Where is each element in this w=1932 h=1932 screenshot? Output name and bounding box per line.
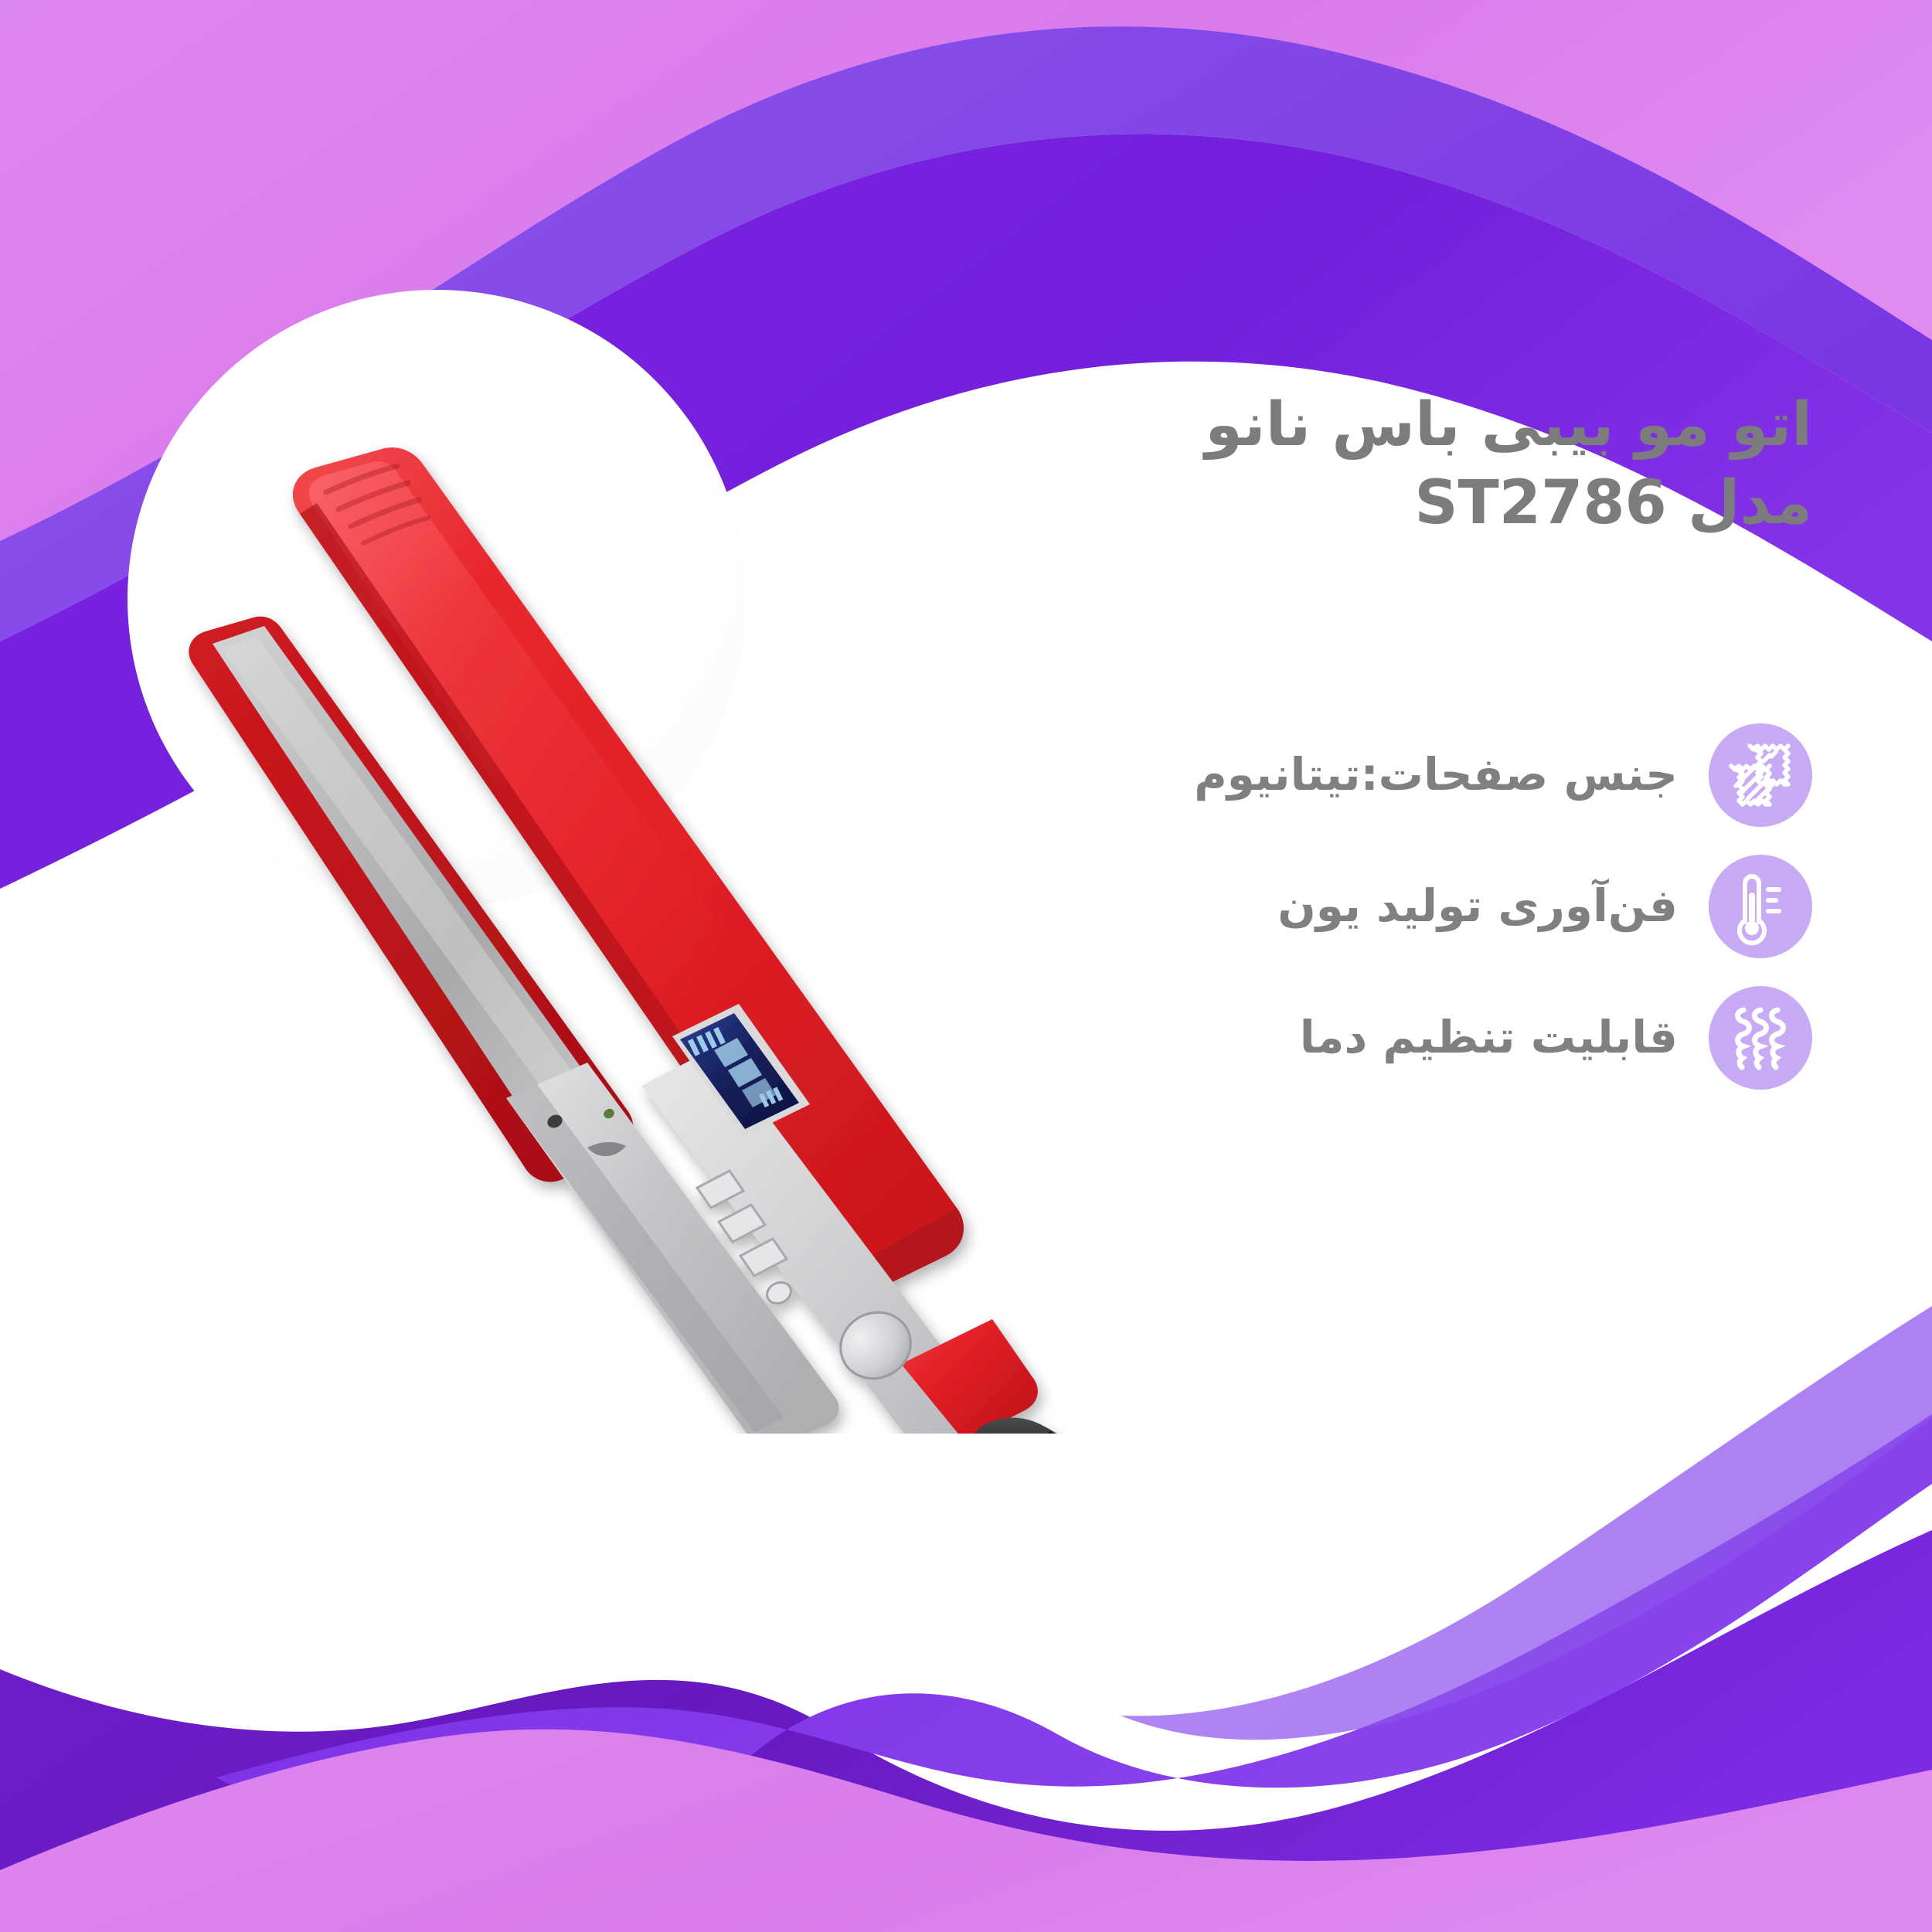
- feature-label: قابلیت تنظیم دما: [962, 1011, 1678, 1065]
- bottom-wave-orchid: [0, 1730, 1932, 1932]
- feature-item-ion-technology: فن‌آوری تولید یون: [962, 841, 1812, 972]
- product-info-column: اتو مو بیبی باس نانو مدل ST2786: [962, 386, 1812, 1104]
- thermometer-icon: [1709, 855, 1812, 958]
- product-image-container: [54, 274, 1066, 1434]
- hair-straightener-photo: [54, 274, 1066, 1434]
- bottom-wave-brightviolet: [216, 1414, 1932, 1849]
- titanium-plates-icon: [1709, 723, 1812, 827]
- feature-label: فن‌آوری تولید یون: [962, 879, 1678, 934]
- cord-ribs: [1049, 1432, 1066, 1434]
- wavy-hair-icon: [1709, 986, 1812, 1090]
- product-card: اتو مو بیبی باس نانو مدل ST2786: [0, 0, 1932, 1932]
- feature-item-titanium-plates: جنس صفحات:تیتانیوم: [962, 709, 1812, 841]
- feature-list: جنس صفحات:تیتانیوم: [962, 709, 1812, 1104]
- power-button: [764, 1278, 794, 1307]
- page-title: اتو مو بیبی باس نانو مدل ST2786: [962, 386, 1812, 543]
- bottom-wave-highlight: [1121, 1306, 1932, 1740]
- feature-label: جنس صفحات:تیتانیوم: [962, 748, 1678, 802]
- bottom-wave-deepviolet: [0, 1530, 1932, 1932]
- feature-item-temperature-control: قابلیت تنظیم دما: [962, 972, 1812, 1104]
